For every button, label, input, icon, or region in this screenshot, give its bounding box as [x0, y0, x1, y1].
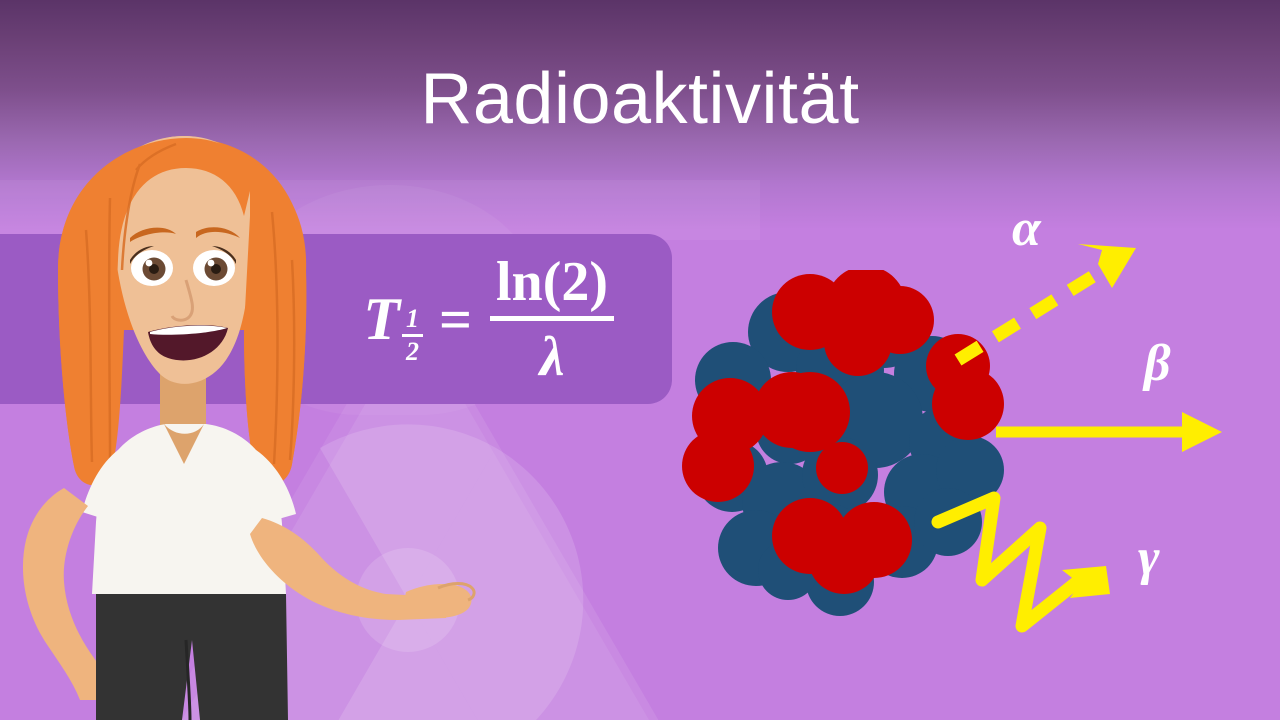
beta-label: β: [1144, 338, 1171, 390]
fraction-denominator: λ: [534, 321, 571, 385]
radiation-rays: [930, 180, 1280, 680]
gamma-label: γ: [1138, 532, 1160, 584]
alpha-ray-arrow: [958, 244, 1136, 360]
eye-glint-right: [208, 260, 215, 267]
alpha-label: α: [1012, 203, 1041, 255]
hand-right: [400, 584, 472, 618]
eye-glint-left: [146, 260, 153, 267]
slide-canvas: Radioaktivität T 1 2 = ln(2) λ: [0, 0, 1280, 720]
gamma-ray-arrow: [938, 498, 1110, 626]
presenter-avatar: [0, 120, 520, 720]
pants: [96, 594, 288, 720]
beta-ray-arrow: [996, 412, 1222, 452]
